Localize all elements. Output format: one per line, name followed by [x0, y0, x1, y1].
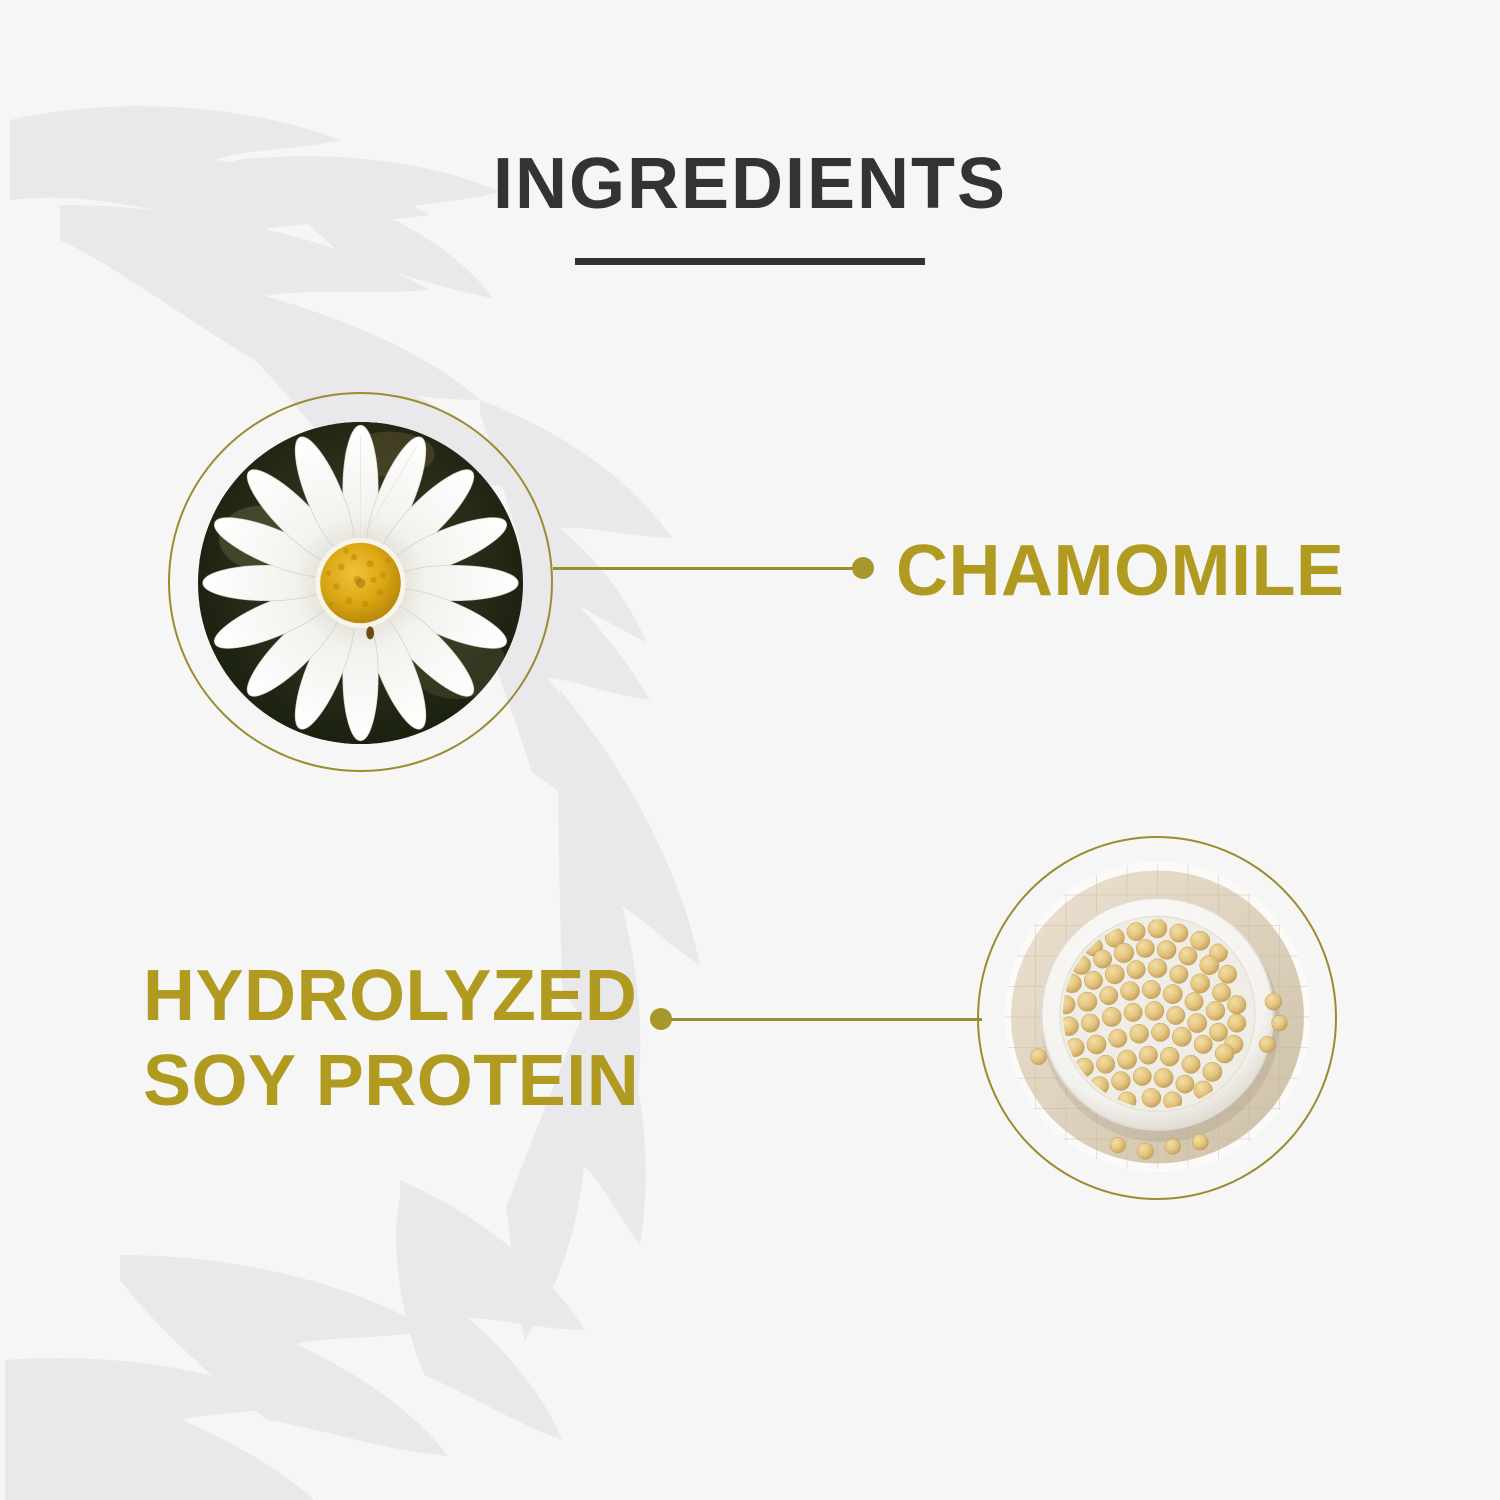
soy-protein-label: HYDROLYZEDSOY PROTEIN	[143, 954, 639, 1124]
ingredients-infographic: INGREDIENTS	[0, 0, 1500, 1500]
chamomile-flower-photo	[198, 422, 523, 744]
title-block: INGREDIENTS	[0, 148, 1500, 265]
soy-connector-dot	[650, 1008, 672, 1030]
soy-label-line-2: SOY PROTEIN	[143, 1041, 639, 1121]
soy-connector-line	[660, 1018, 982, 1021]
soybeans-bowl-photo	[1005, 862, 1310, 1172]
chamomile-connector-dot	[852, 557, 874, 579]
chamomile-connector-line	[553, 567, 865, 570]
page-title: INGREDIENTS	[0, 148, 1500, 220]
soy-label-line-1: HYDROLYZED	[143, 956, 637, 1036]
title-underline-rule	[575, 258, 925, 265]
chamomile-label: CHAMOMILE	[896, 529, 1344, 614]
